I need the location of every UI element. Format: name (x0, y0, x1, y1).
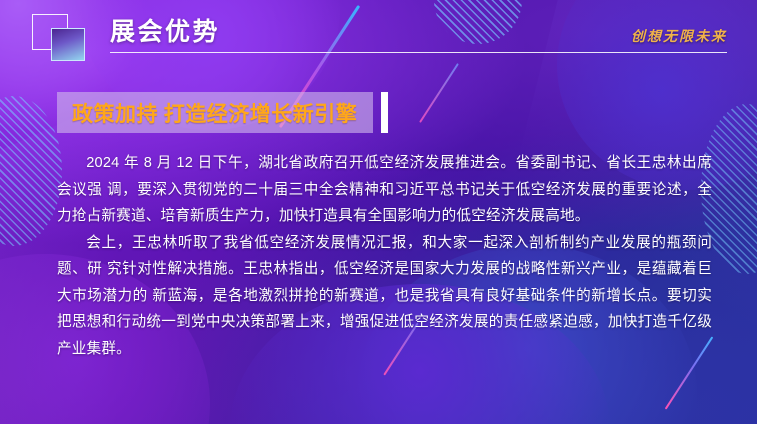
body-paragraph: 会上，王忠林听取了我省低空经济发展情况汇报，和大家一起深入剖析制约产业发展的瓶颈… (57, 230, 712, 363)
overlapping-squares-logo-icon (32, 14, 94, 60)
section-banner: 政策加持 打造经济增长新引擎 (57, 92, 388, 133)
body-content: 2024 年 8 月 12 日下午，湖北省政府召开低空经济发展推进会。省委副书记… (57, 150, 712, 362)
section-banner-title: 政策加持 打造经济增长新引擎 (72, 98, 357, 128)
body-paragraph: 2024 年 8 月 12 日下午，湖北省政府召开低空经济发展推进会。省委副书记… (57, 150, 712, 230)
header-slogan: 创想无限未来 (631, 26, 727, 46)
diagonal-streak-decoration (419, 63, 459, 123)
logo-gradient-square (51, 28, 85, 61)
page-title: 展会优势 (110, 12, 220, 48)
section-banner-accent-bar (381, 92, 388, 133)
slide-header: 展会优势 创想无限未来 (0, 0, 757, 60)
presentation-slide: 展会优势 创想无限未来 政策加持 打造经济增长新引擎 2024 年 8 月 12… (0, 0, 757, 424)
header-divider (110, 52, 727, 53)
section-banner-panel: 政策加持 打造经济增长新引擎 (57, 92, 373, 133)
hatched-circle-decoration (0, 96, 62, 246)
